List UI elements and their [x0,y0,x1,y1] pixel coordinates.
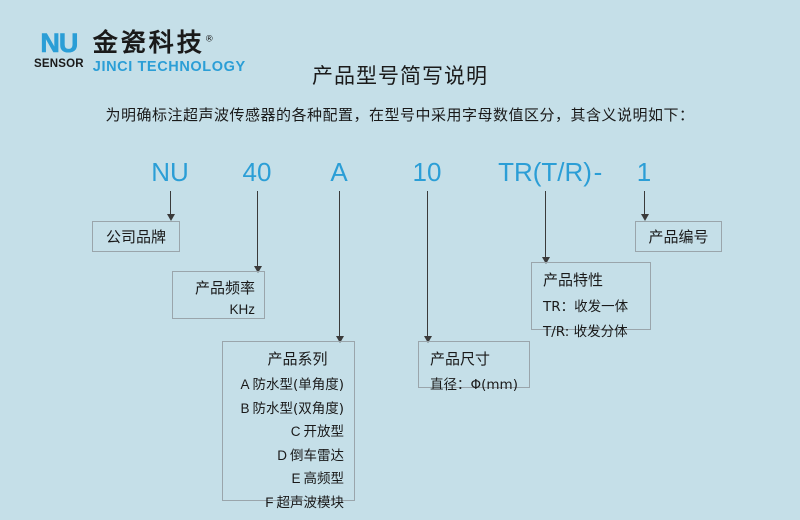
box-frequency: 产品频率 KHz [172,271,265,319]
box-size-title: 产品尺寸 [430,348,519,369]
box-series-title: 产品系列 [233,348,344,369]
series-item-d-label: 倒车雷达 [290,448,344,464]
series-item-c-label: 开放型 [304,424,345,440]
box-feature-title: 产品特性 [543,269,639,290]
series-item-e-key: E [291,471,300,486]
series-item-b-label: 防水型(双角度) [252,401,344,417]
page-title: 产品型号简写说明 [0,60,800,90]
connector-arrow-serial [641,214,649,221]
box-brand-title: 公司品牌 [106,226,166,247]
registered-trademark-icon: ® [205,35,217,45]
series-item-a-key: A [240,377,249,392]
code-token-brand: NU [151,157,189,188]
logo-company-name-cn: 金瓷科技® [93,30,246,55]
series-item-e-label: 高频型 [304,471,345,487]
series-item-e: E高频型 [233,467,344,487]
box-feature-line-t-r: T/R: 收发分体 [543,320,639,340]
series-item-b: B防水型(双角度) [233,397,344,417]
connector-line-feature [545,191,546,260]
series-item-c-key: C [291,424,301,439]
box-size: 产品尺寸 直径：Φ(mm) [418,341,530,388]
connector-arrow-brand [167,214,175,221]
connector-line-series [339,191,340,339]
box-frequency-unit: KHz [182,302,255,317]
box-serial-title: 产品编号 [648,226,708,247]
code-token-feature: TR(T/R) [498,157,592,188]
code-token-serial: 1 [637,157,651,188]
box-series: 产品系列 A防水型(单角度) B防水型(双角度) C开放型 D倒车雷达 E高频型… [222,341,355,501]
connector-line-frequency [257,191,258,269]
series-item-b-key: B [240,401,249,416]
connector-line-size [427,191,428,339]
code-token-series: A [330,157,347,188]
series-item-a: A防水型(单角度) [233,373,344,393]
code-token-size: 10 [413,157,442,188]
box-feature: 产品特性 TR：收发一体 T/R: 收发分体 [531,262,651,330]
box-serial: 产品编号 [635,221,722,252]
code-token-dash: - [594,157,603,188]
series-item-c: C开放型 [233,420,344,440]
logo-mark-text: NU [40,30,77,57]
series-item-f-label: 超声波模块 [277,495,345,511]
series-item-a-label: 防水型(单角度) [252,377,344,393]
series-item-d-key: D [277,448,287,463]
box-frequency-title: 产品频率 [182,277,255,298]
series-item-f-key: F [265,495,273,510]
diagram-canvas: NU SENSOR 金瓷科技® JINCI TECHNOLOGY 产品型号简写说… [0,0,800,520]
page-subtitle: 为明确标注超声波传感器的各种配置，在型号中采用字母数值区分，其含义说明如下： [0,104,800,125]
logo-company-name-cn-text: 金瓷科技 [93,28,205,57]
box-size-spec: 直径：Φ(mm) [430,373,519,393]
series-item-f: F超声波模块 [233,491,344,511]
series-item-d: D倒车雷达 [233,444,344,464]
box-feature-line-tr: TR：收发一体 [543,295,639,315]
code-token-frequency: 40 [243,157,272,188]
box-brand: 公司品牌 [92,221,180,252]
